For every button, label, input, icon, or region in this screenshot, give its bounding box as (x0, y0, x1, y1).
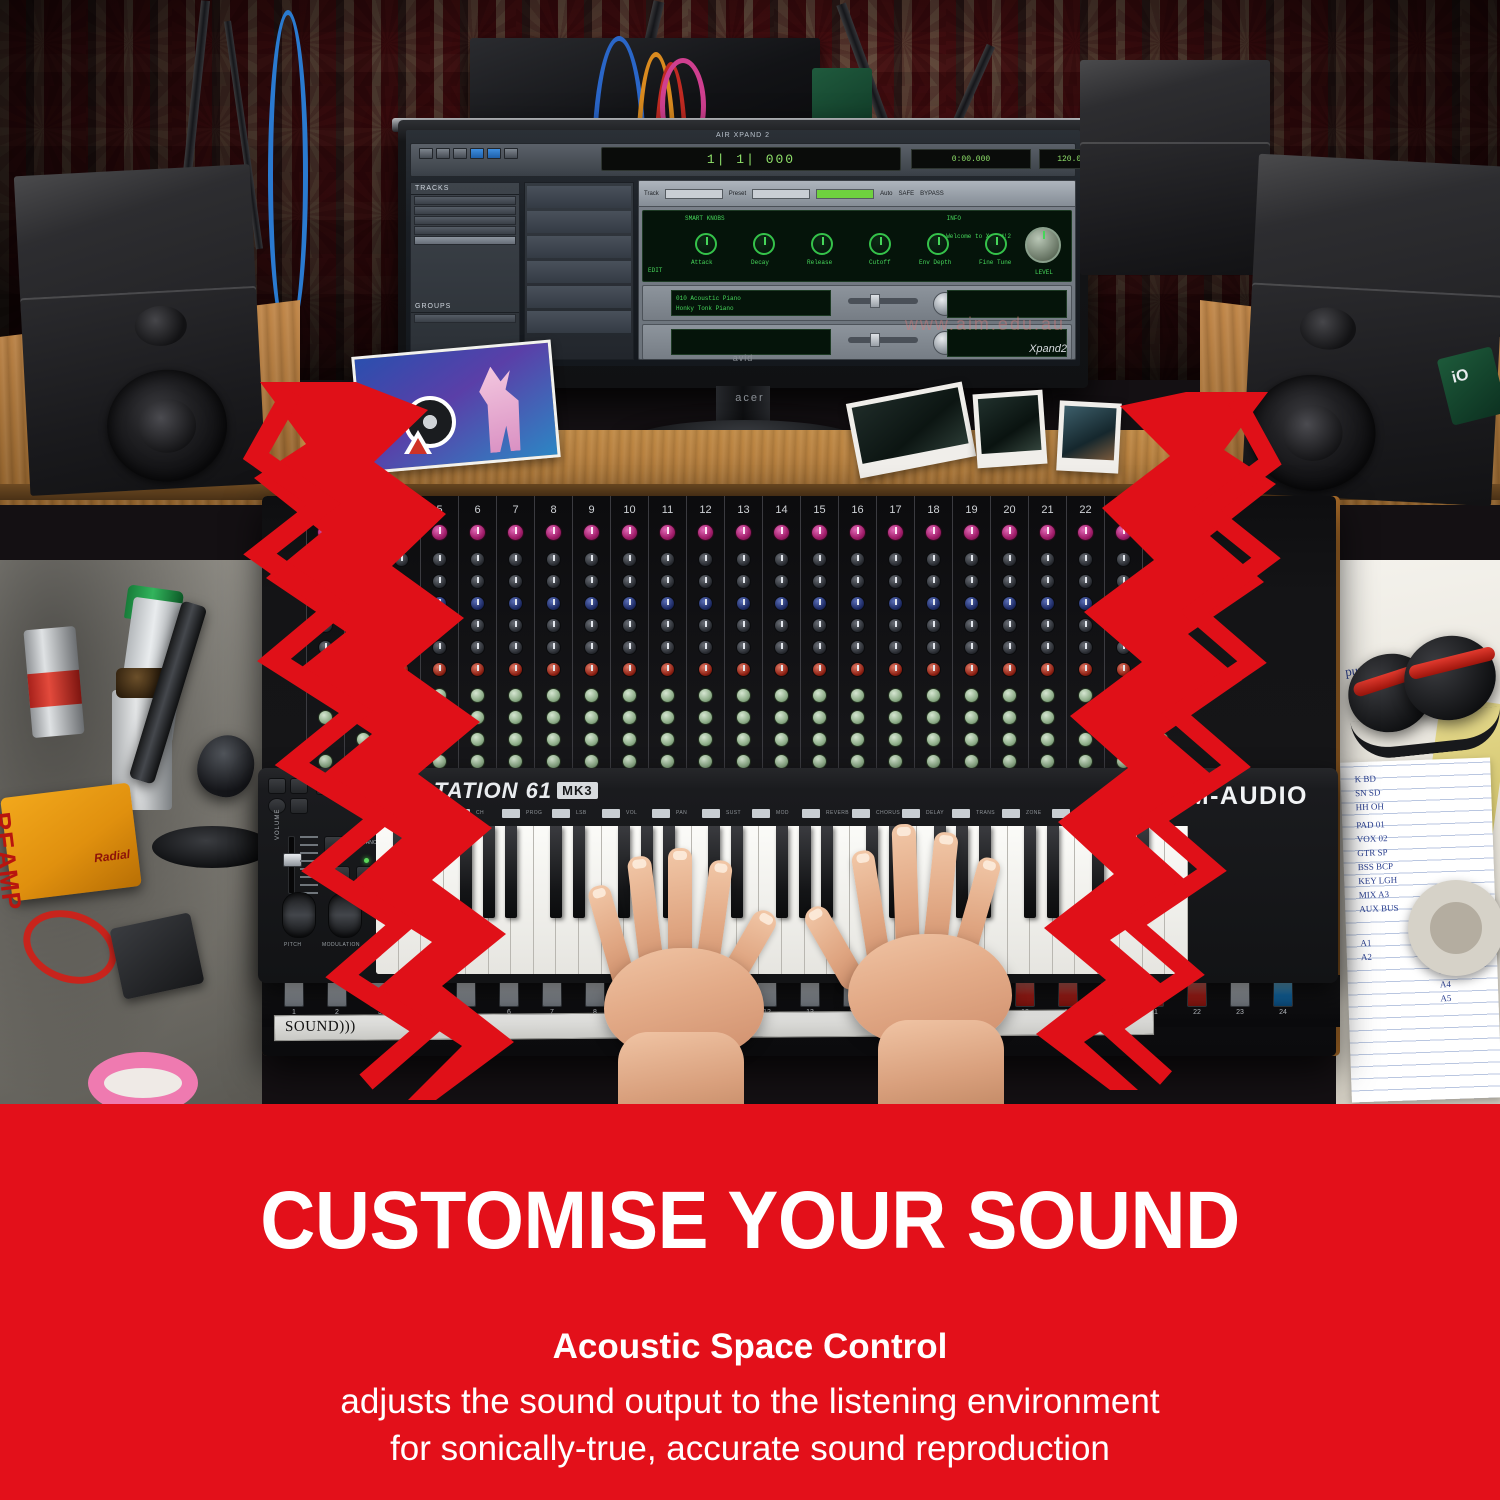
mute-button[interactable] (542, 981, 562, 1007)
aux-send-knob[interactable] (1116, 688, 1131, 703)
eq-knob[interactable] (926, 640, 941, 655)
advanced-button[interactable] (324, 836, 352, 853)
mixer-channel-strip[interactable]: 5 (420, 496, 458, 776)
eq-knob[interactable] (508, 552, 523, 567)
aux-send-knob[interactable] (394, 732, 409, 747)
aux-send-knob[interactable] (888, 754, 903, 769)
eq-knob[interactable] (356, 552, 371, 567)
transport-button-active[interactable] (470, 148, 484, 159)
eq-knob[interactable] (1002, 640, 1017, 655)
plugin-header[interactable]: Track Preset Auto SAFE BYPASS (639, 181, 1075, 207)
mixer-channel-strip[interactable]: 20 (990, 496, 1028, 776)
mixer-channel-strip[interactable]: 23 (1104, 496, 1142, 776)
aux-send-knob[interactable] (394, 710, 409, 725)
gain-knob[interactable] (887, 524, 904, 541)
aux-send-knob[interactable] (1154, 732, 1169, 747)
black-key[interactable] (460, 826, 472, 918)
eq-knob[interactable] (888, 552, 903, 567)
aux-send-knob[interactable] (926, 754, 941, 769)
eq-knob[interactable] (926, 662, 941, 677)
play-button[interactable] (340, 776, 360, 795)
aux-send-knob[interactable] (850, 754, 865, 769)
audio-clip[interactable] (527, 286, 631, 308)
mixer-channel-strip[interactable]: 13 (724, 496, 762, 776)
eq-knob[interactable] (1078, 552, 1093, 567)
eq-knob[interactable] (888, 640, 903, 655)
eq-knob[interactable] (356, 574, 371, 589)
aux-send-knob[interactable] (1002, 688, 1017, 703)
eq-knob[interactable] (964, 596, 979, 611)
eq-knob[interactable] (546, 596, 561, 611)
eq-knob[interactable] (964, 552, 979, 567)
gain-knob[interactable] (659, 524, 676, 541)
aux-send-knob[interactable] (1154, 754, 1169, 769)
mixer-channel-strip[interactable]: 18 (914, 496, 952, 776)
daw-screen[interactable]: AIR XPAND 2 1| 1| 000 0:00.000 120.000 (406, 130, 1080, 366)
gain-knob[interactable] (507, 524, 524, 541)
track-row[interactable] (414, 196, 516, 205)
eq-knob[interactable] (356, 618, 371, 633)
mute-button[interactable] (327, 981, 347, 1007)
aux-send-knob[interactable] (318, 688, 333, 703)
eq-knob[interactable] (318, 574, 333, 589)
aux-send-knob[interactable] (736, 688, 751, 703)
eq-knob[interactable] (964, 662, 979, 677)
eq-knob[interactable] (850, 662, 865, 677)
eq-knob[interactable] (736, 574, 751, 589)
eq-knob[interactable] (1040, 640, 1055, 655)
aux-send-knob[interactable] (470, 688, 485, 703)
mixer-channel-strip[interactable]: 24 (1142, 496, 1180, 776)
mute-button[interactable] (1144, 981, 1164, 1007)
aux-send-knob[interactable] (508, 754, 523, 769)
eq-knob[interactable] (546, 552, 561, 567)
aux-send-knob[interactable] (546, 710, 561, 725)
keyboard-control-panel[interactable]: VOLUME ADVANCED PITCH MODULATION (266, 774, 370, 977)
mixer-channel-strip[interactable]: 7 (496, 496, 534, 776)
eq-knob[interactable] (1078, 662, 1093, 677)
eq-knob[interactable] (736, 552, 751, 567)
aux-send-knob[interactable] (356, 710, 371, 725)
aux-send-knob[interactable] (850, 688, 865, 703)
aux-send-knob[interactable] (1078, 754, 1093, 769)
aux-send-knob[interactable] (660, 688, 675, 703)
eq-knob[interactable] (812, 662, 827, 677)
mixer-channel-strip[interactable]: 15 (800, 496, 838, 776)
aux-send-knob[interactable] (812, 754, 827, 769)
eq-knob[interactable] (394, 618, 409, 633)
eq-knob[interactable] (622, 574, 637, 589)
eq-knob[interactable] (888, 574, 903, 589)
eq-knob[interactable] (964, 574, 979, 589)
eq-knob[interactable] (318, 640, 333, 655)
black-key[interactable] (1114, 826, 1126, 918)
eq-knob[interactable] (318, 552, 333, 567)
aux-send-knob[interactable] (470, 710, 485, 725)
aux-send-knob[interactable] (660, 710, 675, 725)
aux-send-knob[interactable] (1002, 710, 1017, 725)
eq-knob[interactable] (432, 618, 447, 633)
eq-knob[interactable] (888, 618, 903, 633)
eq-knob[interactable] (736, 618, 751, 633)
eq-knob[interactable] (318, 596, 333, 611)
track-row-selected[interactable] (414, 236, 516, 245)
black-key[interactable] (550, 826, 562, 918)
mixer-channel-strip[interactable]: 21 (1028, 496, 1066, 776)
pitch-bend-wheel[interactable] (282, 892, 316, 938)
eq-knob[interactable] (660, 640, 675, 655)
track-row[interactable] (414, 206, 516, 215)
aux-send-knob[interactable] (584, 710, 599, 725)
volume-fader[interactable] (288, 836, 295, 894)
audio-clip[interactable] (527, 186, 631, 208)
audio-clip[interactable] (527, 311, 631, 333)
eq-knob[interactable] (698, 574, 713, 589)
aux-send-knob[interactable] (736, 732, 751, 747)
aux-send-knob[interactable] (926, 732, 941, 747)
nav-left-button[interactable] (268, 778, 286, 794)
aux-send-knob[interactable] (622, 732, 637, 747)
eq-knob[interactable] (622, 618, 637, 633)
mixer-channel-strip[interactable]: 3 (344, 496, 382, 776)
plugin-compare-button[interactable] (816, 189, 874, 199)
mute-button[interactable] (1101, 981, 1121, 1007)
aux-send-knob[interactable] (318, 710, 333, 725)
aux-send-knob[interactable] (356, 732, 371, 747)
mixer-channel-strip[interactable]: 10 (610, 496, 648, 776)
aux-send-knob[interactable] (850, 710, 865, 725)
aux-send-knob[interactable] (432, 732, 447, 747)
transport-button[interactable] (453, 148, 467, 159)
eq-knob[interactable] (1002, 618, 1017, 633)
gain-knob[interactable] (621, 524, 638, 541)
mixer-channel-strip[interactable]: 17 (876, 496, 914, 776)
aux-send-knob[interactable] (964, 732, 979, 747)
eq-knob[interactable] (584, 552, 599, 567)
eq-knob[interactable] (546, 574, 561, 589)
eq-knob[interactable] (470, 596, 485, 611)
attack-knob[interactable] (695, 233, 717, 255)
eq-knob[interactable] (698, 618, 713, 633)
gain-knob[interactable] (811, 524, 828, 541)
eq-knob[interactable] (1154, 596, 1169, 611)
mixer-channel-strip[interactable]: 9 (572, 496, 610, 776)
aux-send-knob[interactable] (660, 754, 675, 769)
eq-knob[interactable] (508, 640, 523, 655)
group-row[interactable] (414, 314, 516, 323)
midi-keyboard-controller[interactable]: KEYSTATION 61MK3 M-AUDIO DATAMSBCHPROGLS… (258, 768, 1338, 983)
mixer-channel-strip[interactable]: 8 (534, 496, 572, 776)
aux-send-knob[interactable] (1116, 732, 1131, 747)
stop-button[interactable] (316, 776, 336, 795)
eq-knob[interactable] (394, 552, 409, 567)
part-level-slider[interactable] (848, 298, 918, 304)
eq-knob[interactable] (812, 640, 827, 655)
eq-knob[interactable] (1116, 618, 1131, 633)
eq-knob[interactable] (508, 618, 523, 633)
aux-send-knob[interactable] (318, 732, 333, 747)
eq-knob[interactable] (1040, 662, 1055, 677)
eq-knob[interactable] (660, 662, 675, 677)
eq-knob[interactable] (508, 574, 523, 589)
mixer-channel-strip[interactable]: 6 (458, 496, 496, 776)
gain-knob[interactable] (583, 524, 600, 541)
eq-knob[interactable] (546, 618, 561, 633)
eq-knob[interactable] (394, 596, 409, 611)
aux-send-knob[interactable] (1002, 754, 1017, 769)
daw-transport-bar[interactable]: 1| 1| 000 0:00.000 120.000 (410, 143, 1076, 177)
eq-knob[interactable] (1040, 596, 1055, 611)
eq-knob[interactable] (1040, 574, 1055, 589)
gain-knob[interactable] (1039, 524, 1056, 541)
audio-clip[interactable] (527, 261, 631, 283)
aux-send-knob[interactable] (888, 732, 903, 747)
aux-send-knob[interactable] (964, 754, 979, 769)
gain-knob[interactable] (1077, 524, 1094, 541)
aux-send-knob[interactable] (698, 754, 713, 769)
gain-knob[interactable] (1153, 524, 1170, 541)
track-row[interactable] (414, 216, 516, 225)
eq-knob[interactable] (660, 596, 675, 611)
aux-send-knob[interactable] (888, 688, 903, 703)
fine-tune-knob[interactable] (985, 233, 1007, 255)
aux-send-knob[interactable] (508, 688, 523, 703)
aux-send-knob[interactable] (1116, 710, 1131, 725)
aux-send-knob[interactable] (1078, 688, 1093, 703)
eq-knob[interactable] (736, 596, 751, 611)
black-key[interactable] (1047, 826, 1059, 918)
mute-button[interactable] (1273, 981, 1293, 1007)
eq-knob[interactable] (1002, 552, 1017, 567)
eq-knob[interactable] (470, 552, 485, 567)
aux-send-knob[interactable] (622, 688, 637, 703)
aux-send-knob[interactable] (622, 754, 637, 769)
eq-knob[interactable] (698, 552, 713, 567)
aux-send-knob[interactable] (698, 732, 713, 747)
loop-button[interactable] (290, 798, 308, 814)
gain-knob[interactable] (697, 524, 714, 541)
eq-knob[interactable] (1078, 640, 1093, 655)
eq-knob[interactable] (1154, 618, 1169, 633)
eq-knob[interactable] (584, 574, 599, 589)
gain-knob[interactable] (545, 524, 562, 541)
eq-knob[interactable] (812, 618, 827, 633)
eq-knob[interactable] (622, 552, 637, 567)
aux-send-knob[interactable] (356, 754, 371, 769)
plugin-insert-select[interactable] (665, 189, 723, 199)
transport-button-active[interactable] (487, 148, 501, 159)
eq-knob[interactable] (774, 552, 789, 567)
eq-knob[interactable] (1116, 596, 1131, 611)
white-key[interactable] (1165, 826, 1188, 974)
eq-knob[interactable] (736, 640, 751, 655)
eq-knob[interactable] (774, 618, 789, 633)
eq-knob[interactable] (660, 618, 675, 633)
mixer-channel-strip[interactable]: 11 (648, 496, 686, 776)
eq-knob[interactable] (1002, 662, 1017, 677)
eq-knob[interactable] (926, 574, 941, 589)
mixer-channel-strip[interactable]: 16 (838, 496, 876, 776)
eq-knob[interactable] (470, 640, 485, 655)
aux-send-knob[interactable] (1040, 710, 1055, 725)
eq-knob[interactable] (622, 640, 637, 655)
eq-knob[interactable] (1116, 662, 1131, 677)
black-key[interactable] (799, 826, 811, 918)
mixer-channel-strip[interactable]: 4 (382, 496, 420, 776)
eq-knob[interactable] (850, 640, 865, 655)
eq-knob[interactable] (1116, 640, 1131, 655)
eq-knob[interactable] (508, 596, 523, 611)
aux-send-knob[interactable] (1040, 688, 1055, 703)
eq-knob[interactable] (964, 640, 979, 655)
aux-send-knob[interactable] (318, 754, 333, 769)
aux-send-knob[interactable] (394, 754, 409, 769)
black-key[interactable] (1137, 826, 1149, 918)
gain-knob[interactable] (317, 524, 334, 541)
aux-send-knob[interactable] (736, 710, 751, 725)
eq-knob[interactable] (850, 574, 865, 589)
eq-knob[interactable] (1154, 640, 1169, 655)
part-level-slider[interactable] (848, 337, 918, 343)
aux-send-knob[interactable] (964, 710, 979, 725)
gain-knob[interactable] (773, 524, 790, 541)
eq-knob[interactable] (1002, 596, 1017, 611)
eq-knob[interactable] (926, 552, 941, 567)
aux-send-knob[interactable] (546, 754, 561, 769)
edit-window[interactable] (524, 182, 634, 360)
mute-button[interactable] (1187, 981, 1207, 1007)
aux-send-knob[interactable] (660, 732, 675, 747)
gain-knob[interactable] (735, 524, 752, 541)
env-depth-knob[interactable] (927, 233, 949, 255)
eq-knob[interactable] (356, 640, 371, 655)
mute-button[interactable] (499, 981, 519, 1007)
mute-button[interactable] (456, 981, 476, 1007)
aux-send-knob[interactable] (1040, 754, 1055, 769)
xpand2-plugin-window[interactable]: Track Preset Auto SAFE BYPASS SMART KNOB… (638, 180, 1076, 360)
modulation-wheel[interactable] (328, 892, 362, 938)
aux-send-knob[interactable] (774, 754, 789, 769)
gain-knob[interactable] (393, 524, 410, 541)
plugin-safe-label[interactable]: SAFE (898, 191, 914, 197)
aux-send-knob[interactable] (432, 688, 447, 703)
aux-send-knob[interactable] (546, 688, 561, 703)
eq-knob[interactable] (584, 662, 599, 677)
aux-send-knob[interactable] (508, 732, 523, 747)
aux-send-knob[interactable] (698, 710, 713, 725)
eq-knob[interactable] (394, 640, 409, 655)
eq-knob[interactable] (546, 640, 561, 655)
black-key[interactable] (483, 826, 495, 918)
mute-button[interactable] (413, 981, 433, 1007)
eq-knob[interactable] (622, 662, 637, 677)
eq-knob[interactable] (660, 574, 675, 589)
transport-button[interactable] (504, 148, 518, 159)
eq-knob[interactable] (698, 640, 713, 655)
mute-button[interactable] (1058, 981, 1078, 1007)
eq-knob[interactable] (660, 552, 675, 567)
tracks-panel[interactable]: TRACKS GROUPS (410, 182, 520, 360)
eq-knob[interactable] (432, 574, 447, 589)
mixer-channel-strip[interactable]: 2 (306, 496, 344, 776)
aux-send-knob[interactable] (926, 710, 941, 725)
gain-knob[interactable] (1115, 524, 1132, 541)
eq-knob[interactable] (1078, 574, 1093, 589)
plugin-bypass-label[interactable]: BYPASS (920, 191, 944, 197)
eq-knob[interactable] (356, 596, 371, 611)
aux-send-knob[interactable] (508, 710, 523, 725)
cutoff-knob[interactable] (869, 233, 891, 255)
aux-send-knob[interactable] (584, 732, 599, 747)
eq-knob[interactable] (850, 552, 865, 567)
aux-send-knob[interactable] (774, 710, 789, 725)
eq-knob[interactable] (1078, 618, 1093, 633)
eq-knob[interactable] (318, 618, 333, 633)
aux-send-knob[interactable] (584, 754, 599, 769)
eq-knob[interactable] (470, 574, 485, 589)
master-level-knob[interactable] (1025, 227, 1061, 263)
plugin-preset-select[interactable] (752, 189, 810, 199)
eq-knob[interactable] (964, 618, 979, 633)
black-key[interactable] (393, 826, 405, 918)
aux-send-knob[interactable] (584, 688, 599, 703)
eq-knob[interactable] (394, 574, 409, 589)
gain-knob[interactable] (431, 524, 448, 541)
eq-knob[interactable] (432, 596, 447, 611)
mixer-channel-strip[interactable]: 19 (952, 496, 990, 776)
nav-right-button[interactable] (290, 778, 308, 794)
eq-knob[interactable] (888, 662, 903, 677)
eq-knob[interactable] (584, 596, 599, 611)
eq-knob[interactable] (1078, 596, 1093, 611)
eq-knob[interactable] (850, 618, 865, 633)
eq-knob[interactable] (1154, 662, 1169, 677)
gain-knob[interactable] (925, 524, 942, 541)
mixer-channel-strip[interactable]: 12 (686, 496, 724, 776)
aux-send-knob[interactable] (1154, 688, 1169, 703)
aux-send-knob[interactable] (432, 754, 447, 769)
aux-send-knob[interactable] (812, 710, 827, 725)
gain-knob[interactable] (849, 524, 866, 541)
gain-knob[interactable] (1001, 524, 1018, 541)
aux-send-knob[interactable] (774, 732, 789, 747)
eq-knob[interactable] (774, 640, 789, 655)
gain-knob[interactable] (469, 524, 486, 541)
black-key[interactable] (505, 826, 517, 918)
gain-knob[interactable] (355, 524, 372, 541)
aux-send-knob[interactable] (546, 732, 561, 747)
audio-clip[interactable] (527, 211, 631, 233)
aux-send-knob[interactable] (356, 688, 371, 703)
aux-send-knob[interactable] (1154, 710, 1169, 725)
edit-label[interactable]: EDIT (648, 267, 662, 274)
mute-button[interactable] (284, 981, 304, 1007)
eq-knob[interactable] (698, 596, 713, 611)
smart-knobs-panel[interactable]: SMART KNOBS INFO Welcome to Xpand!2 EDIT… (642, 210, 1072, 282)
eq-knob[interactable] (774, 596, 789, 611)
eq-knob[interactable] (1154, 574, 1169, 589)
aux-send-knob[interactable] (394, 688, 409, 703)
eq-knob[interactable] (926, 618, 941, 633)
track-row[interactable] (414, 226, 516, 235)
eq-knob[interactable] (546, 662, 561, 677)
eq-knob[interactable] (432, 552, 447, 567)
aux-send-knob[interactable] (850, 732, 865, 747)
eq-knob[interactable] (470, 618, 485, 633)
eq-knob[interactable] (584, 640, 599, 655)
black-key[interactable] (573, 826, 585, 918)
transport-button[interactable] (419, 148, 433, 159)
